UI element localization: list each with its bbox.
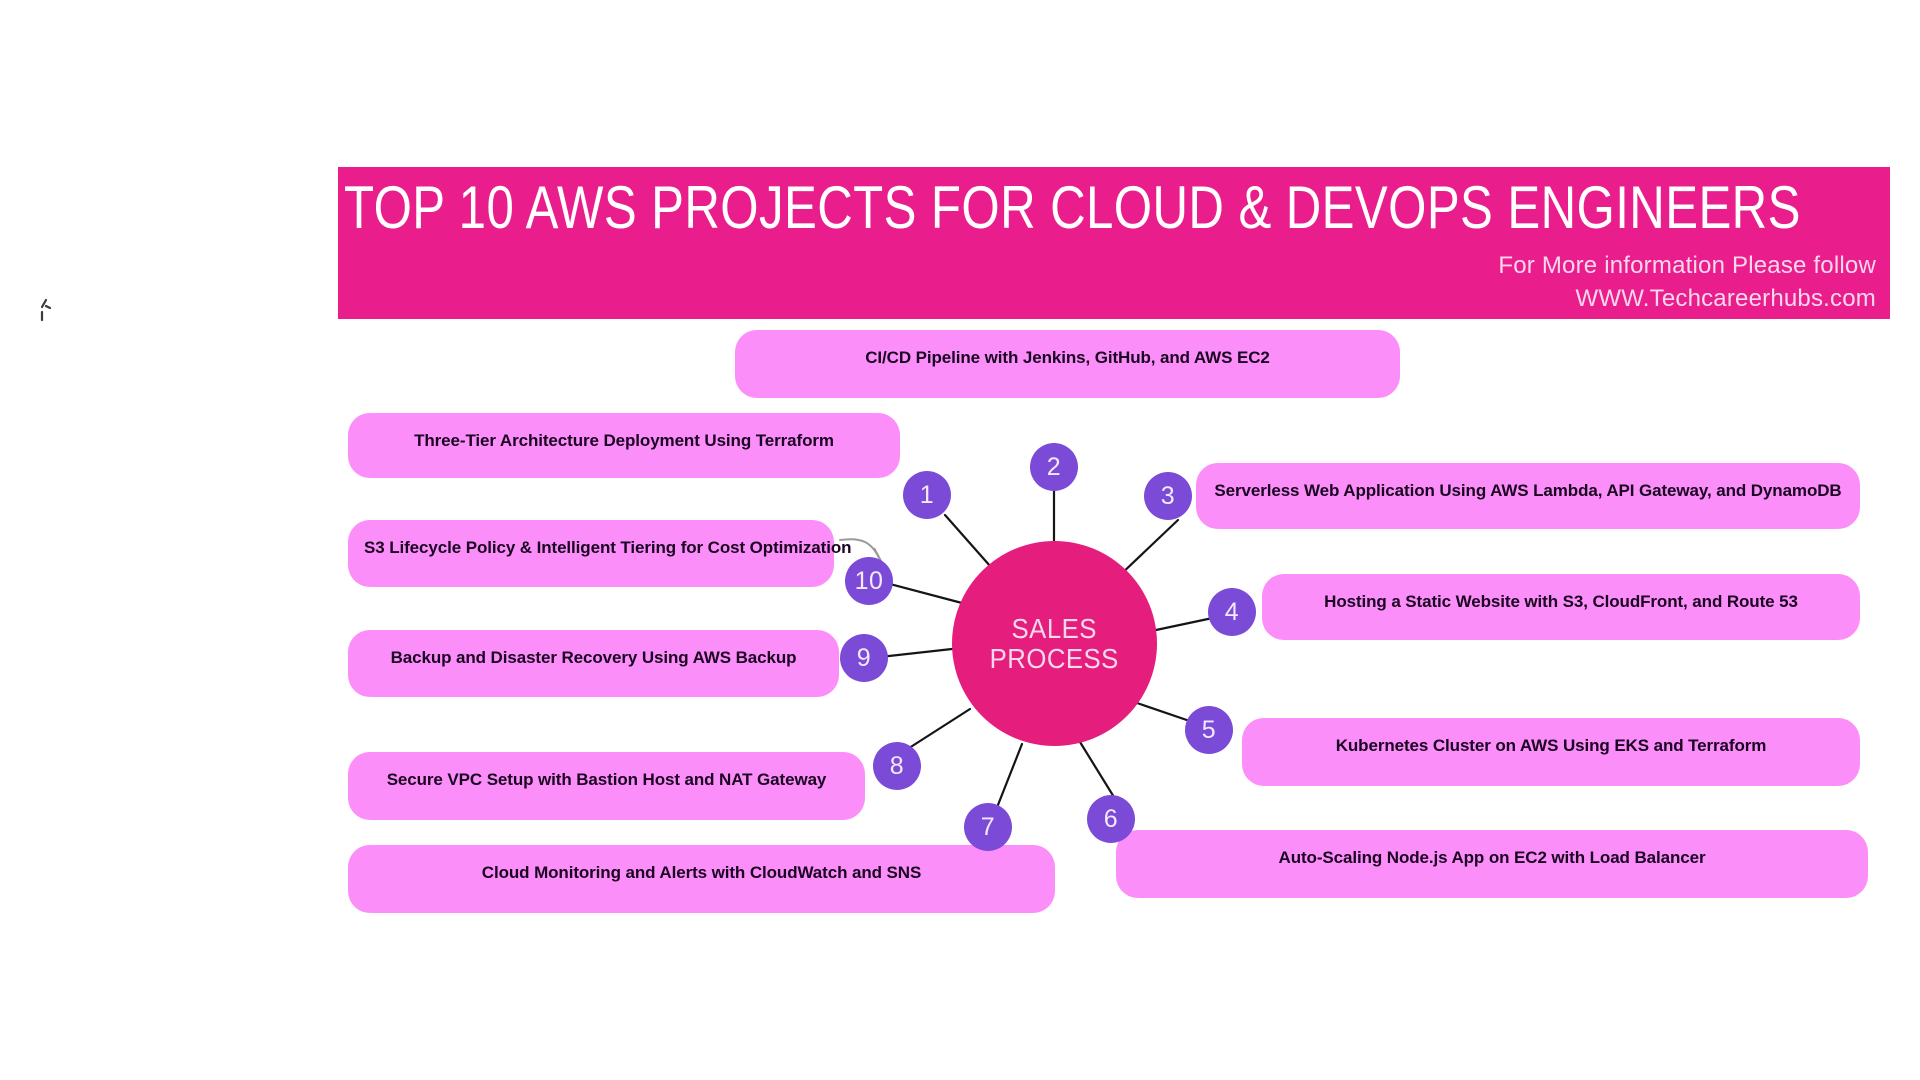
number-badge-1[interactable]: 1 bbox=[903, 471, 951, 519]
label-pill-5-text: Kubernetes Cluster on AWS Using EKS and … bbox=[1242, 735, 1860, 756]
connector-line-9 bbox=[880, 649, 952, 657]
page-title: TOP 10 AWS PROJECTS FOR CLOUD & DEVOPS E… bbox=[344, 177, 1607, 239]
number-badge-4[interactable]: 4 bbox=[1208, 588, 1256, 636]
hub-label: SALESPROCESS bbox=[990, 614, 1119, 674]
number-badge-7[interactable]: 7 bbox=[964, 803, 1012, 851]
number-badge-3[interactable]: 3 bbox=[1144, 472, 1192, 520]
label-pill-6[interactable]: Auto-Scaling Node.js App on EC2 with Loa… bbox=[1116, 830, 1868, 898]
label-pill-4[interactable]: Hosting a Static Website with S3, CloudF… bbox=[1262, 574, 1860, 640]
number-badge-6-text: 6 bbox=[1104, 807, 1118, 832]
label-pill-2[interactable]: Three-Tier Architecture Deployment Using… bbox=[348, 413, 900, 478]
label-pill-10[interactable]: S3 Lifecycle Policy & Intelligent Tierin… bbox=[348, 520, 834, 587]
label-pill-5[interactable]: Kubernetes Cluster on AWS Using EKS and … bbox=[1242, 718, 1860, 786]
number-badge-7-text: 7 bbox=[981, 815, 995, 840]
label-pill-7-text: Cloud Monitoring and Alerts with CloudWa… bbox=[348, 862, 1055, 883]
header-subtitle: For More information Please follow WWW.T… bbox=[324, 249, 1876, 315]
infographic-canvas: TOP 10 AWS PROJECTS FOR CLOUD & DEVOPS E… bbox=[0, 0, 1920, 1080]
number-badge-9[interactable]: 9 bbox=[840, 634, 888, 682]
number-badge-9-text: 9 bbox=[857, 646, 871, 671]
connector-line-8 bbox=[906, 709, 970, 750]
label-pill-6-text: Auto-Scaling Node.js App on EC2 with Loa… bbox=[1116, 847, 1868, 868]
subtitle-line-2: WWW.Techcareerhubs.com bbox=[324, 282, 1876, 315]
label-pill-8[interactable]: Secure VPC Setup with Bastion Host and N… bbox=[348, 752, 865, 820]
stray-mark-artifact bbox=[38, 298, 60, 324]
number-badge-4-text: 4 bbox=[1225, 600, 1239, 625]
label-pill-8-text: Secure VPC Setup with Bastion Host and N… bbox=[348, 769, 865, 790]
number-badge-5[interactable]: 5 bbox=[1185, 706, 1233, 754]
label-pill-10-text: S3 Lifecycle Policy & Intelligent Tierin… bbox=[348, 537, 834, 558]
label-pill-3-text: Serverless Web Application Using AWS Lam… bbox=[1196, 480, 1860, 501]
connector-line-3 bbox=[1118, 520, 1178, 577]
label-pill-1[interactable]: CI/CD Pipeline with Jenkins, GitHub, and… bbox=[735, 330, 1400, 398]
label-pill-9-text: Backup and Disaster Recovery Using AWS B… bbox=[348, 647, 839, 668]
number-badge-1-text: 1 bbox=[920, 483, 934, 508]
center-hub: SALESPROCESS bbox=[952, 541, 1157, 746]
number-badge-10-text: 10 bbox=[855, 569, 884, 594]
hub-line-2: PROCESS bbox=[990, 643, 1119, 674]
number-badge-8[interactable]: 8 bbox=[873, 742, 921, 790]
label-pill-1-text: CI/CD Pipeline with Jenkins, GitHub, and… bbox=[735, 347, 1400, 368]
number-badge-3-text: 3 bbox=[1161, 484, 1175, 509]
number-badge-2-text: 2 bbox=[1047, 455, 1061, 480]
label-pill-4-text: Hosting a Static Website with S3, CloudF… bbox=[1262, 591, 1860, 612]
connector-lines bbox=[0, 0, 1920, 1080]
number-badge-6[interactable]: 6 bbox=[1087, 795, 1135, 843]
number-badge-8-text: 8 bbox=[890, 754, 904, 779]
header-banner: TOP 10 AWS PROJECTS FOR CLOUD & DEVOPS E… bbox=[338, 167, 1890, 319]
connector-line-7 bbox=[996, 744, 1022, 810]
label-pill-9[interactable]: Backup and Disaster Recovery Using AWS B… bbox=[348, 630, 839, 697]
label-pill-2-text: Three-Tier Architecture Deployment Using… bbox=[348, 430, 900, 451]
number-badge-10[interactable]: 10 bbox=[845, 557, 893, 605]
label-pill-7[interactable]: Cloud Monitoring and Alerts with CloudWa… bbox=[348, 845, 1055, 913]
connector-line-10 bbox=[886, 583, 962, 603]
subtitle-line-1: For More information Please follow bbox=[324, 249, 1876, 282]
number-badge-2[interactable]: 2 bbox=[1030, 443, 1078, 491]
connector-line-6 bbox=[1080, 742, 1117, 802]
label-pill-3[interactable]: Serverless Web Application Using AWS Lam… bbox=[1196, 463, 1860, 529]
number-badge-5-text: 5 bbox=[1202, 718, 1216, 743]
hub-line-1: SALES bbox=[1012, 613, 1097, 644]
